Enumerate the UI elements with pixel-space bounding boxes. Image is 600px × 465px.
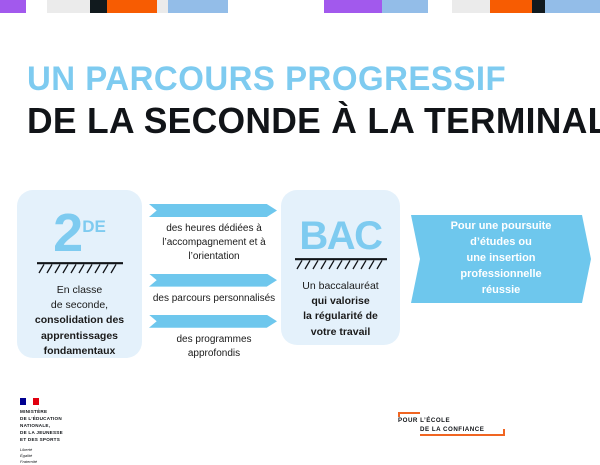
top-bar-segment-10 (382, 0, 428, 13)
seconde-desc-line-1: En classe (24, 283, 135, 298)
step-arrow-bar-icon-2 (149, 274, 277, 287)
bac-description: Un baccalauréat qui valorise la régulari… (281, 271, 400, 340)
outcome-banner-text: Pour une poursuite d’études ou une inser… (435, 219, 568, 299)
flag-stripe-red (33, 398, 39, 405)
ministry-name-text: MINISTÈRE DE L’ÉDUCATION NATIONALE, DE L… (20, 408, 130, 444)
hatched-underline-icon (295, 258, 387, 271)
confiance-logo: POUR L’ÉCOLE DE LA CONFIANCE (393, 406, 505, 436)
bac-level-mark: BAC (281, 190, 400, 256)
title-line-primary: UN PARCOURS PROGRESSIF (27, 62, 570, 98)
seconde-level-mark: 2DE (17, 190, 142, 260)
french-flag-icon (20, 398, 39, 405)
confiance-rule-bottom (420, 434, 505, 436)
step-arrow-bar-icon-3 (149, 315, 277, 328)
intermediate-steps-list: des heures dédiées à l’accompagnement et… (149, 204, 279, 370)
top-bar-segment-6 (157, 0, 168, 13)
step-label-3: des programmes approfondis (149, 328, 279, 361)
seconde-desc-line-2: de seconde, (24, 298, 135, 313)
step-label-1: des heures dédiées à l’accompagnement et… (149, 217, 279, 265)
top-decorative-color-bar (0, 0, 600, 13)
top-bar-segment-15 (545, 0, 600, 13)
confiance-line-2: DE LA CONFIANCE (420, 426, 484, 433)
bac-desc-line-3: la régularité de (288, 309, 393, 324)
top-bar-segment-7 (168, 0, 228, 13)
top-bar-segment-9 (324, 0, 382, 13)
seconde-description: En classe de seconde, consolidation des … (17, 275, 142, 359)
seconde-number-superscript: DE (82, 217, 106, 236)
top-bar-segment-13 (490, 0, 532, 13)
confiance-rule-top (398, 412, 420, 414)
top-bar-segment-8 (228, 0, 324, 13)
step-item-1: des heures dédiées à l’accompagnement et… (149, 204, 279, 265)
confiance-rule-bottom-tick (503, 429, 505, 434)
step-item-3: des programmes approfondis (149, 315, 279, 361)
top-bar-segment-14 (532, 0, 545, 13)
top-bar-segment-2 (26, 0, 47, 13)
hatched-underline-icon (37, 262, 123, 275)
seconde-number-digit: 2 (53, 203, 82, 263)
bac-desc-line-2: qui valorise (288, 294, 393, 309)
top-bar-segment-11 (428, 0, 452, 13)
step-item-2: des parcours personnalisés (149, 274, 279, 306)
title-line-secondary: DE LA SECONDE À LA TERMINALE (27, 102, 579, 140)
seconde-desc-line-3: consolidation des (24, 313, 135, 328)
top-bar-segment-3 (47, 0, 90, 13)
progression-diagram: 2DE En classe de seconde, consolidation … (0, 188, 600, 368)
step-label-2: des parcours personnalisés (149, 287, 279, 306)
stage-card-seconde: 2DE En classe de seconde, consolidation … (17, 190, 142, 358)
top-bar-segment-4 (90, 0, 107, 13)
top-bar-segment-1 (0, 0, 26, 13)
ministry-motto-text: Liberté Égalité Fraternité (20, 447, 130, 465)
stage-card-bac: BAC Un baccalauréat qui valorise la régu… (281, 190, 400, 345)
seconde-desc-line-4: apprentissages (24, 329, 135, 344)
step-arrow-bar-icon-1 (149, 204, 277, 217)
confiance-line-1: POUR L’ÉCOLE (398, 417, 450, 424)
bac-desc-line-1: Un baccalauréat (288, 279, 393, 294)
seconde-desc-line-5: fondamentaux (24, 344, 135, 359)
outcome-banner: Pour une poursuite d’études ou une inser… (411, 215, 591, 303)
page-title: UN PARCOURS PROGRESSIF DE LA SECONDE À L… (27, 62, 587, 139)
bac-desc-line-4: votre travail (288, 325, 393, 340)
top-bar-segment-5 (107, 0, 157, 13)
top-bar-segment-12 (452, 0, 490, 13)
ministry-logo: MINISTÈRE DE L’ÉDUCATION NATIONALE, DE L… (20, 398, 130, 465)
